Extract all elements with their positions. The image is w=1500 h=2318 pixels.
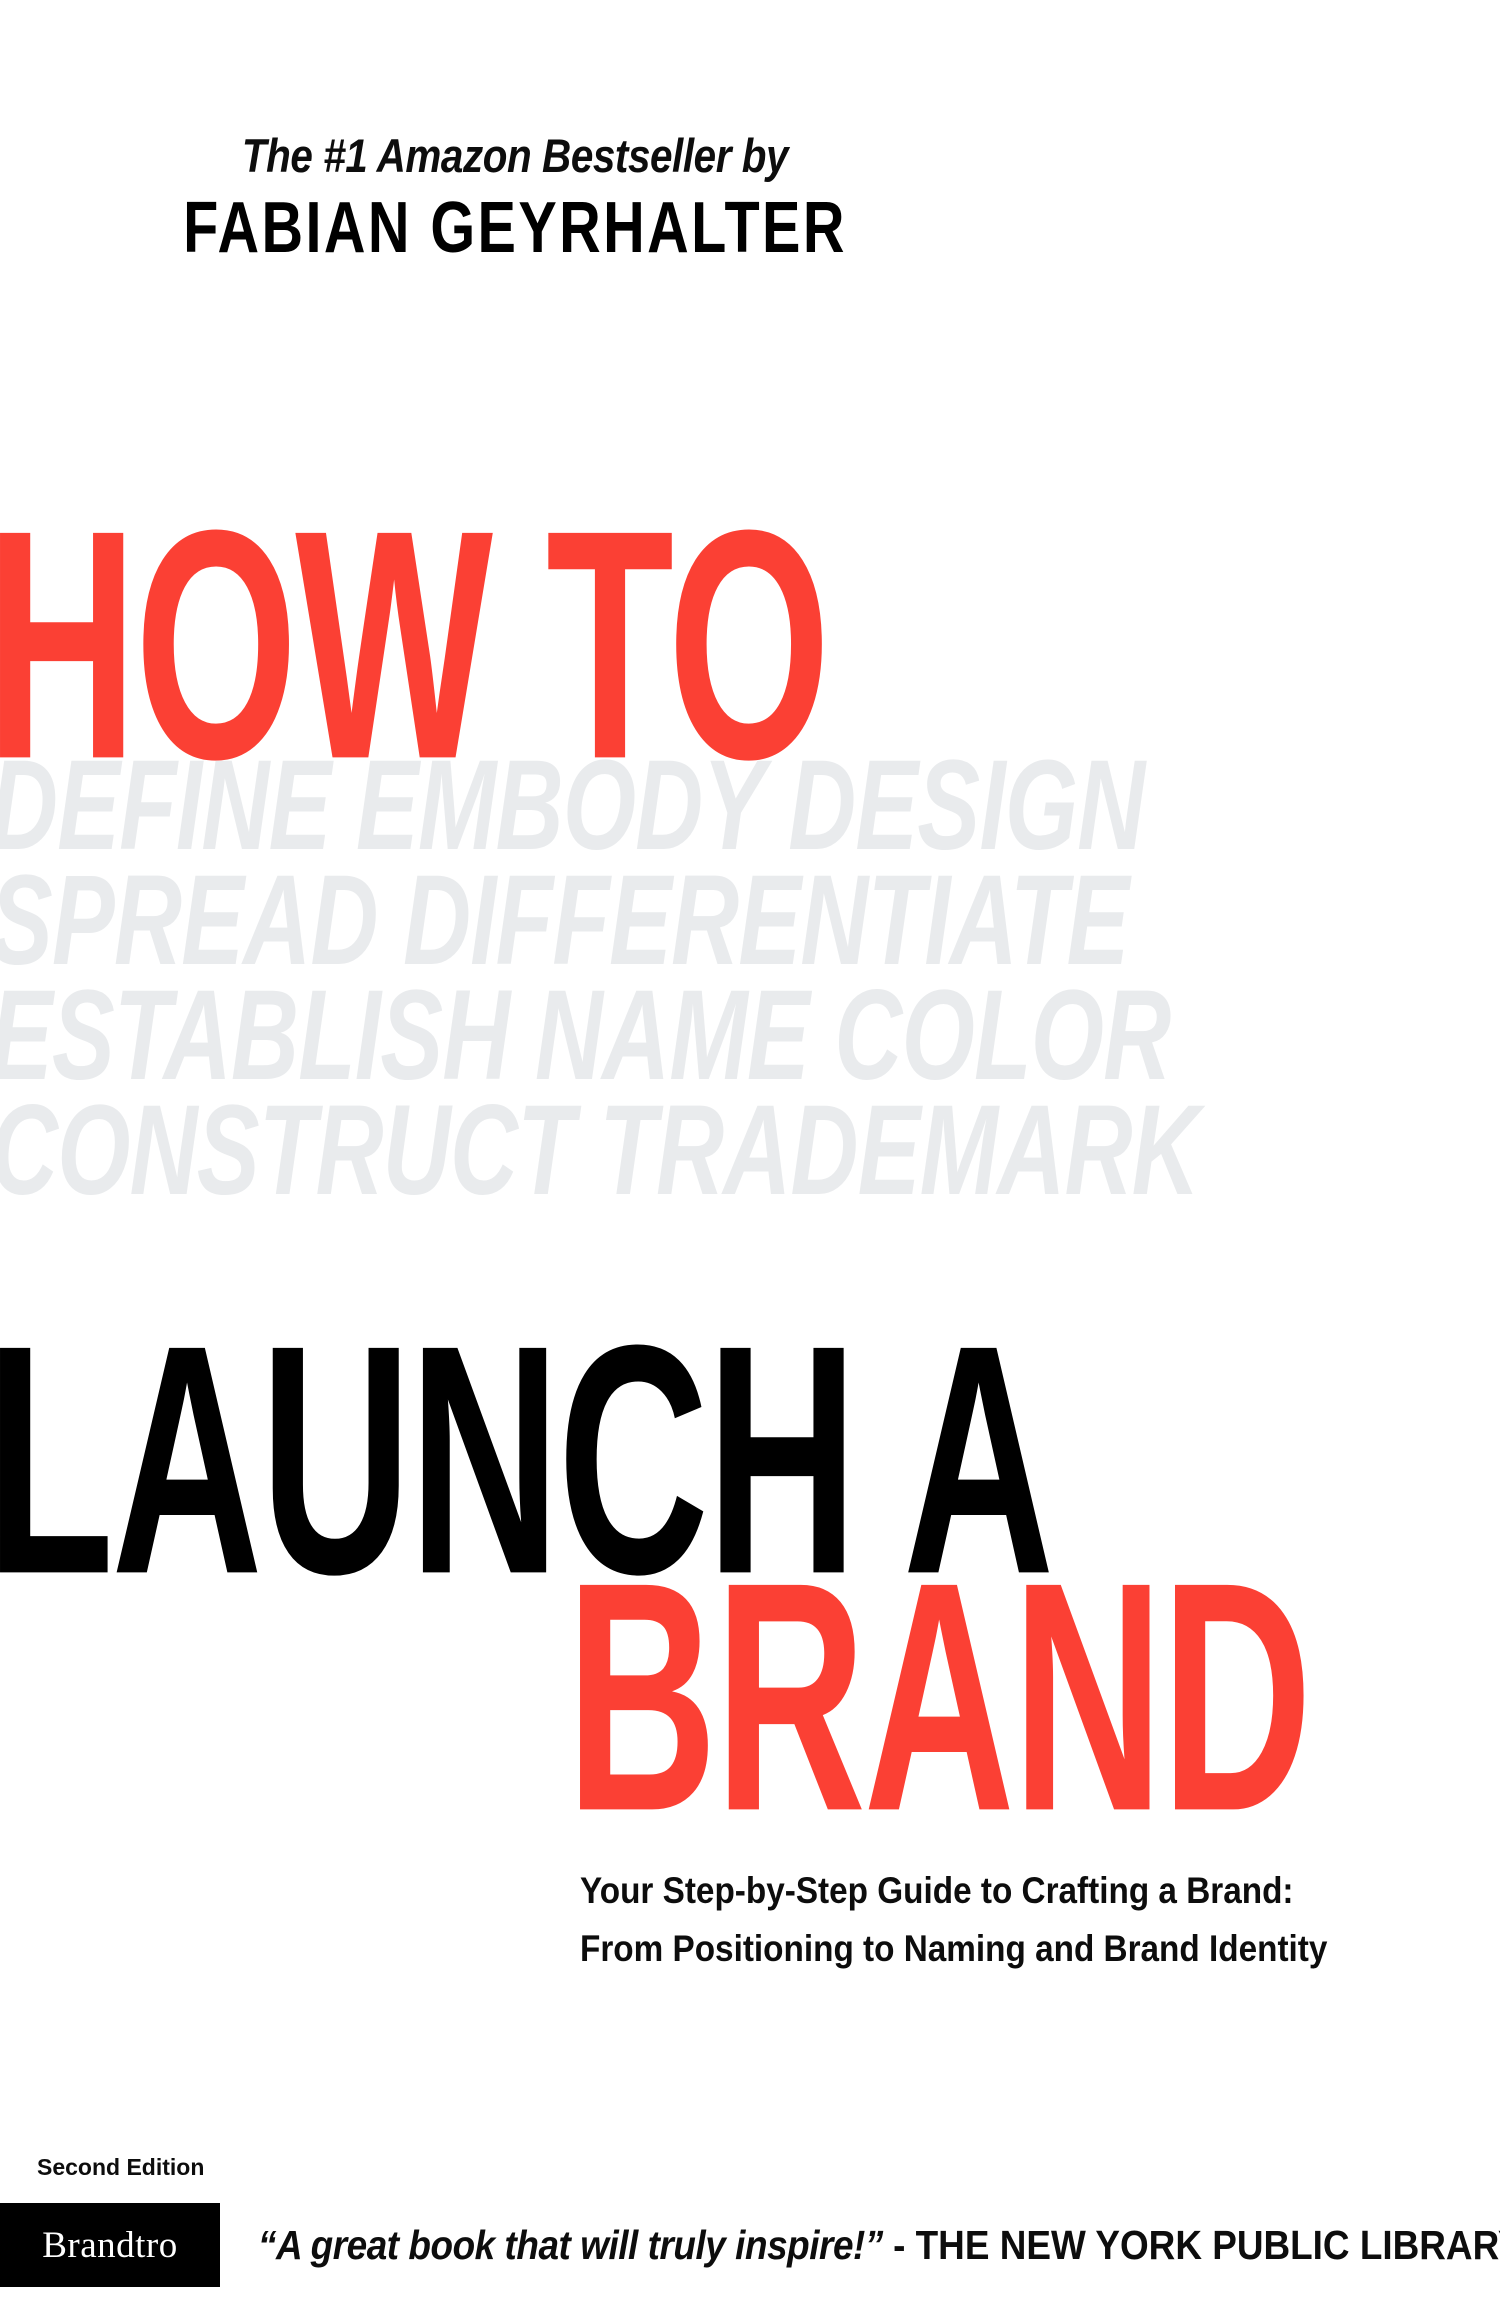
endorsement-strip: “A great book that will truly inspire!” … <box>258 2222 1376 2269</box>
endorsement-source: - THE NEW YORK PUBLIC LIBRARY <box>883 2222 1500 2268</box>
ghost-keyword-line-1: DEFINE EMBODY DESIGN <box>0 748 1107 863</box>
subtitle: Your Step-by-Step Guide to Crafting a Br… <box>580 1862 1408 1978</box>
subtitle-line-1: Your Step-by-Step Guide to Crafting a Br… <box>580 1862 1408 1920</box>
ghost-keyword-block: DEFINE EMBODY DESIGN SPREAD DIFFERENTIAT… <box>0 748 1500 1208</box>
publisher-name: Brandtro <box>0 2203 220 2287</box>
ghost-keyword-line-2: SPREAD DIFFERENTIATE <box>0 863 1107 978</box>
subtitle-line-2: From Positioning to Naming and Brand Ide… <box>580 1920 1408 1978</box>
bestseller-tagline: The #1 Amazon Bestseller by <box>72 128 958 183</box>
ghost-keyword-line-4: CONSTRUCT TRADEMARK <box>0 1093 1107 1208</box>
title-line-brand: BRAND <box>566 1533 1310 1859</box>
book-cover: The #1 Amazon Bestseller by FABIAN GEYRH… <box>0 0 1500 2318</box>
publisher-logo-box: Brandtro <box>0 2203 220 2287</box>
author-name: FABIAN GEYRHALTER <box>103 187 927 269</box>
endorsement-quote: “A great book that will truly inspire!” <box>258 2222 883 2268</box>
edition-label: Second Edition <box>37 2154 204 2181</box>
ghost-keyword-line-3: ESTABLISH NAME COLOR <box>0 978 1107 1093</box>
